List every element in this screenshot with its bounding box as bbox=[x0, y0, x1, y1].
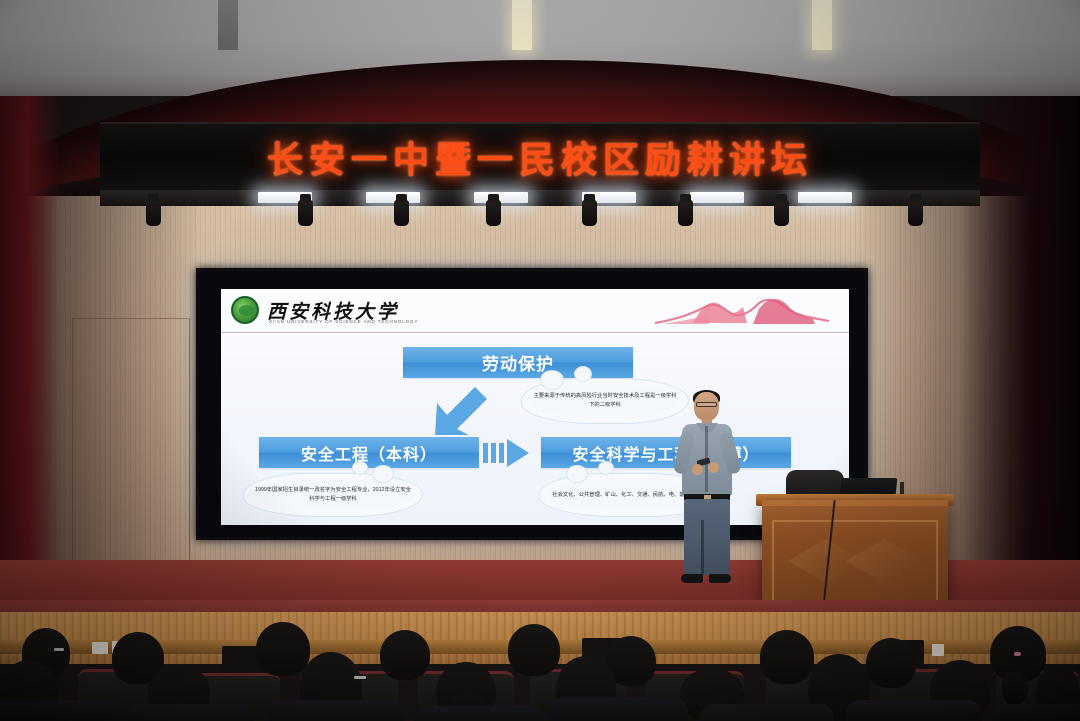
slide-cloud-top-right: 主要来源于传统的高风险行业当时安全技术及工程是一级学科下的二级学科 bbox=[521, 378, 689, 424]
slide-header: 西安科技大学 XI'AN UNIVERSITY OF SCIENCE AND T… bbox=[221, 289, 849, 333]
spotlight-8 bbox=[908, 200, 923, 226]
hair-clip bbox=[1014, 652, 1021, 656]
wall-switch-plate-3[interactable] bbox=[932, 644, 944, 656]
wooden-podium bbox=[762, 500, 948, 612]
audience-head bbox=[760, 630, 814, 684]
audience-shoulders bbox=[992, 704, 1080, 721]
podium-panel bbox=[772, 520, 938, 602]
wall-door-left bbox=[72, 318, 190, 568]
ceiling-light-strip-1 bbox=[218, 0, 238, 50]
ceiling-light-strip-2 bbox=[512, 0, 532, 50]
presenter-shoe-left bbox=[681, 574, 703, 583]
stage-curtain-left bbox=[0, 96, 60, 626]
auditorium-photo: 长安一中暨一民校区励耕讲坛 西安科技大学 XI'AN UNIVERSITY OF… bbox=[0, 0, 1080, 721]
university-seal-icon bbox=[231, 296, 259, 324]
led-bar-5 bbox=[690, 192, 744, 203]
audience-glasses-icon bbox=[54, 648, 64, 651]
presenter-shoe-right bbox=[709, 574, 731, 583]
spotlight-2 bbox=[298, 200, 313, 226]
audience-shoulders bbox=[414, 706, 544, 721]
audience-shoulders bbox=[268, 700, 404, 721]
presenter bbox=[676, 392, 738, 590]
podium-diamond-right bbox=[846, 539, 922, 583]
slide-box-labor-protection: 劳动保护 bbox=[403, 347, 633, 378]
audience-head bbox=[508, 624, 560, 676]
led-bar-6 bbox=[798, 192, 852, 203]
audience-shoulders bbox=[700, 704, 834, 721]
spotlight-7 bbox=[774, 200, 789, 226]
led-bar-2 bbox=[366, 192, 420, 203]
spotlight-5 bbox=[582, 200, 597, 226]
audience-shoulders bbox=[0, 700, 120, 721]
university-name-en: XI'AN UNIVERSITY OF SCIENCE AND TECHNOLO… bbox=[269, 319, 418, 324]
glasses-icon bbox=[696, 402, 717, 407]
mountain-graphic bbox=[647, 293, 837, 329]
slide-box-safety-engineering: 安全工程（本科） bbox=[259, 437, 479, 468]
presenter-hand-right bbox=[708, 462, 719, 473]
presentation-slide: 西安科技大学 XI'AN UNIVERSITY OF SCIENCE AND T… bbox=[221, 289, 849, 525]
audience-head bbox=[256, 622, 310, 676]
right-arrow-icon bbox=[483, 438, 539, 467]
led-bar-3 bbox=[474, 192, 528, 203]
audience-shoulders bbox=[126, 704, 254, 721]
spotlight-1 bbox=[146, 200, 161, 226]
spotlight-3 bbox=[394, 200, 409, 226]
slide-body: 劳动保护 安全工程（本科） 安全科学与工程（硕博） 主要来源于传统的高风险行业当… bbox=[221, 333, 849, 525]
down-arrow-icon bbox=[429, 385, 491, 437]
audience-head bbox=[380, 630, 430, 680]
presenter-trousers bbox=[684, 499, 730, 575]
led-banner: 长安一中暨一民校区励耕讲坛 bbox=[100, 122, 980, 190]
audience-glasses-icon bbox=[354, 676, 366, 679]
audience-ponytail bbox=[1002, 672, 1028, 706]
audience-shoulders bbox=[548, 698, 688, 721]
slide-box-safety-science: 安全科学与工程（硕博） bbox=[541, 437, 791, 468]
slide-cloud-bottom-left: 1999年国家招生目录统一改名字为安全工程专业，2012年设立安全科学与工程一级… bbox=[243, 473, 423, 517]
presenter-hand-left bbox=[692, 464, 703, 475]
audience-head bbox=[866, 638, 916, 688]
spotlight-4 bbox=[486, 200, 501, 226]
spotlight-6 bbox=[678, 200, 693, 226]
audience-shoulders bbox=[846, 700, 982, 721]
wall-switch-plate-1[interactable] bbox=[92, 642, 108, 654]
banner-text: 长安一中暨一民校区励耕讲坛 bbox=[267, 131, 813, 183]
presenter-leg-split bbox=[701, 520, 704, 575]
ceiling-light-strip-3 bbox=[812, 0, 832, 50]
